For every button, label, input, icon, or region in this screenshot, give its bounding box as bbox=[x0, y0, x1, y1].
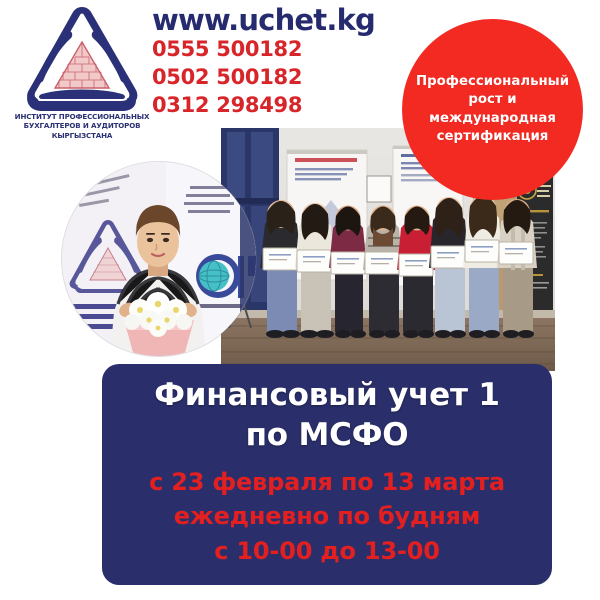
portrait-illustration bbox=[62, 162, 256, 356]
instructor-portrait-photo bbox=[62, 162, 256, 356]
logo-caption-line-3: КЫРГЫЗСТАНА bbox=[8, 131, 156, 140]
institute-logo-caption: ИНСТИТУТ ПРОФЕССИОНАЛЬНЫХ БУХГАЛТЕРОВ и … bbox=[8, 112, 156, 140]
promo-badge-line-4: сертификация bbox=[416, 128, 569, 146]
course-announcement-panel: Финансовый учет 1 по МСФО с 23 февраля п… bbox=[102, 364, 552, 585]
course-title-line-1: Финансовый учет 1 bbox=[114, 376, 540, 416]
course-date-range: с 23 февраля по 13 марта bbox=[114, 465, 540, 499]
course-details: с 23 февраля по 13 марта ежедневно по бу… bbox=[114, 465, 540, 567]
course-title-line-2: по МСФО bbox=[114, 416, 540, 456]
contact-block: www.uchet.kg 0555 500182 0502 500182 031… bbox=[152, 4, 402, 120]
promo-badge-line-3: международная bbox=[416, 110, 569, 128]
logo-caption-line-1: ИНСТИТУТ ПРОФЕССИОНАЛЬНЫХ bbox=[8, 112, 156, 121]
website-link[interactable]: www.uchet.kg bbox=[152, 4, 402, 36]
pyramid-icon bbox=[55, 42, 109, 88]
phone-number-1[interactable]: 0555 500182 bbox=[152, 36, 402, 64]
poster-canvas: ИНСТИТУТ ПРОФЕССИОНАЛЬНЫХ БУХГАЛТЕРОВ и … bbox=[0, 0, 600, 600]
phone-number-2[interactable]: 0502 500182 bbox=[152, 64, 402, 92]
logo-caption-line-2: БУХГАЛТЕРОВ и АУДИТОРОВ bbox=[8, 121, 156, 130]
course-title: Финансовый учет 1 по МСФО bbox=[114, 376, 540, 455]
promo-badge-line-1: Профессиональный bbox=[416, 73, 569, 91]
phone-number-3[interactable]: 0312 298498 bbox=[152, 92, 402, 120]
institute-logo: ИНСТИТУТ ПРОФЕССИОНАЛЬНЫХ БУХГАЛТЕРОВ и … bbox=[8, 2, 156, 150]
course-schedule: ежедневно по будням bbox=[114, 499, 540, 533]
promo-badge-line-2: рост и bbox=[416, 91, 569, 109]
triangle-swirl-pyramid-icon bbox=[8, 2, 156, 114]
promo-badge: Профессиональный рост и международная се… bbox=[402, 19, 583, 200]
course-time-range: с 10-00 до 13-00 bbox=[114, 534, 540, 568]
promo-badge-text: Профессиональный рост и международная се… bbox=[408, 73, 577, 145]
